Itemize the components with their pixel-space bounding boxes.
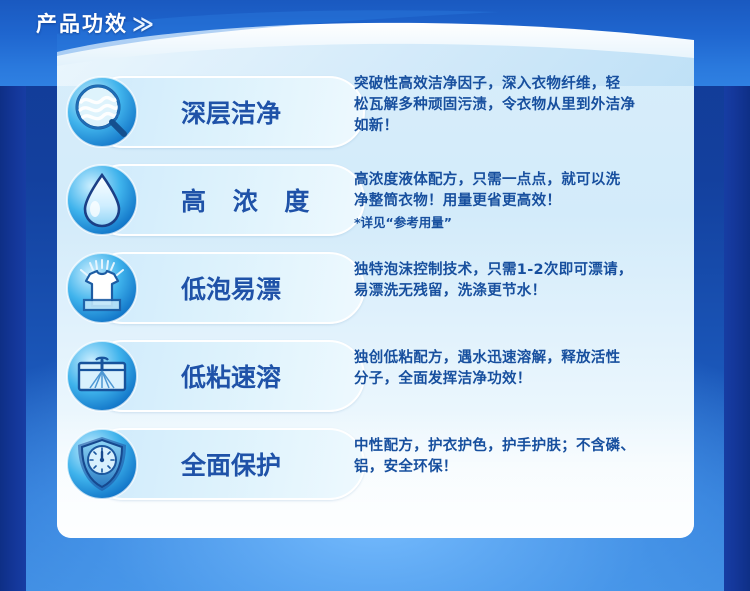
- feature-row[interactable]: 高 浓 度: [57, 158, 694, 246]
- basin-dissolve-icon: [64, 338, 140, 414]
- feature-row[interactable]: 全面保护: [57, 422, 694, 510]
- feature-row[interactable]: 低粘速溶: [57, 334, 694, 422]
- desc-line: 铝，安全环保！: [354, 457, 684, 478]
- feature-row[interactable]: 深层洁净: [57, 70, 694, 158]
- feature-description: 中性配方，护衣护色，护手护肤；不含磷、 铝，安全环保！: [354, 436, 684, 478]
- magnifier-fabric-icon: [64, 74, 140, 150]
- product-feature-banner: 产品功效≫ 深层洁净: [0, 0, 750, 591]
- feature-title: 高 浓 度: [181, 182, 318, 218]
- feature-title: 全面保护: [181, 446, 281, 482]
- desc-line: 突破性高效洁净因子，深入衣物纤维，轻: [354, 74, 684, 95]
- page-title-text: 产品功效: [36, 12, 128, 36]
- feature-row[interactable]: 低泡易漂: [57, 246, 694, 334]
- desc-note: *详见“参考用量”: [354, 212, 684, 233]
- desc-line: 独创低粘配方，遇水迅速溶解，释放活性: [354, 348, 684, 369]
- shirt-sparkle-icon: [64, 250, 140, 326]
- feature-list: 深层洁净: [57, 70, 694, 510]
- desc-line: 分子，全面发挥洁净功效！: [354, 369, 684, 390]
- desc-line: 独特泡沫控制技术，只需1-2次即可漂请，: [354, 260, 684, 281]
- feature-title: 低粘速溶: [181, 358, 281, 394]
- left-frame-rail: [0, 0, 26, 591]
- desc-line: 净整筒衣物！用量更省更高效！: [354, 191, 684, 212]
- desc-line: 中性配方，护衣护色，护手护肤；不含磷、: [354, 436, 684, 457]
- feature-description: 独创低粘配方，遇水迅速溶解，释放活性 分子，全面发挥洁净功效！: [354, 348, 684, 390]
- desc-line: 如新！: [354, 116, 684, 137]
- desc-line: 松瓦解多种顽固污渍，令衣物从里到外洁净: [354, 95, 684, 116]
- feature-title: 深层洁净: [181, 94, 281, 130]
- feature-description: 独特泡沫控制技术，只需1-2次即可漂请， 易漂洗无残留，洗涤更节水！: [354, 260, 684, 302]
- right-frame-rail: [724, 0, 750, 591]
- desc-line: 易漂洗无残留，洗涤更节水！: [354, 281, 684, 302]
- feature-description: 突破性高效洁净因子，深入衣物纤维，轻 松瓦解多种顽固污渍，令衣物从里到外洁净 如…: [354, 74, 684, 137]
- page-title: 产品功效≫: [36, 8, 154, 38]
- title-arrows: ≫: [132, 12, 154, 36]
- shield-clock-icon: [64, 426, 140, 502]
- feature-title: 低泡易漂: [181, 270, 281, 306]
- water-droplet-icon: [64, 162, 140, 238]
- desc-line: 高浓度液体配方，只需一点点，就可以洗: [354, 170, 684, 191]
- feature-description: 高浓度液体配方，只需一点点，就可以洗 净整筒衣物！用量更省更高效！ *详见“参考…: [354, 170, 684, 233]
